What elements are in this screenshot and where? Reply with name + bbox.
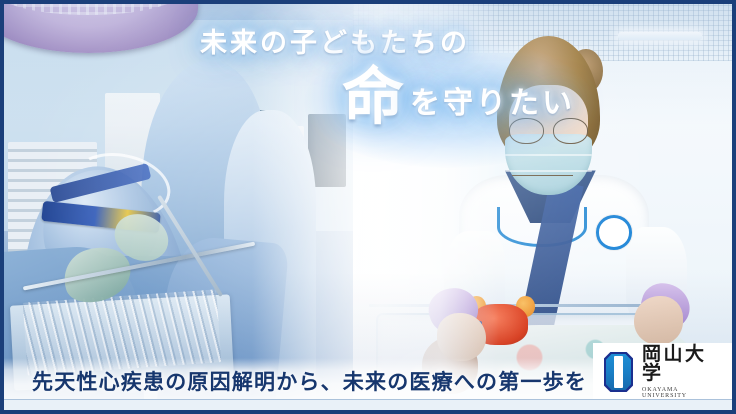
- id-badge: [596, 215, 632, 249]
- university-name-en: OKAYAMA UNIVERSITY: [642, 387, 725, 399]
- university-name-jp: 岡山大学: [642, 345, 725, 383]
- mask-pleat-2: [505, 170, 592, 172]
- surgical-instruments: [23, 290, 222, 376]
- eyeglasses-icon: [509, 118, 588, 142]
- nurse-hand-left: [437, 313, 486, 362]
- surgical-lamp-led-grid: [4, 4, 181, 15]
- mask-pleat-1: [505, 154, 592, 156]
- nurse-hand-right: [634, 296, 683, 345]
- okayama-university-emblem-icon: [604, 352, 633, 392]
- eyeglass-lens-left: [509, 118, 544, 144]
- university-logo[interactable]: 岡山大学 OKAYAMA UNIVERSITY: [593, 343, 733, 401]
- eyeglass-lens-right: [553, 118, 588, 144]
- emblem-white-bar: [614, 356, 624, 389]
- university-logo-text: 岡山大学 OKAYAMA UNIVERSITY: [642, 345, 725, 399]
- caption-text: 先天性心疾患の原因解明から、未来の医療への第一歩を: [32, 366, 587, 396]
- medical-hero-banner: 未来の子どもたちの 命 を守りたい 先天性心疾患の原因解明から、未来の医療への第…: [0, 0, 736, 414]
- ceiling-light-3: [618, 32, 701, 40]
- bottom-rule: [4, 399, 732, 410]
- eyeglass-bridge: [512, 175, 573, 177]
